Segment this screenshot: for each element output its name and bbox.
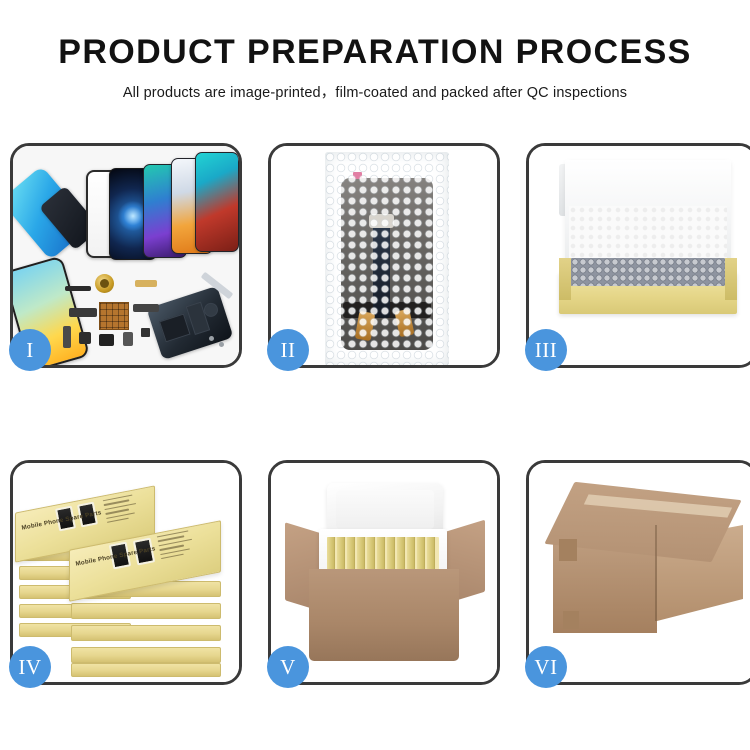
gray-bubble-wrap-contents [571, 258, 725, 286]
process-step-panel-1[interactable]: I [10, 143, 242, 368]
process-step-panel-2[interactable]: II [268, 143, 500, 368]
bubble-texture-overlay [325, 152, 449, 365]
step-6-image [529, 463, 750, 682]
stacked-box-right-5 [71, 663, 221, 677]
chassis-battery [159, 313, 191, 342]
stacked-box-right-2 [71, 603, 221, 619]
step-5-image [271, 463, 497, 682]
step-2-image [271, 146, 497, 365]
carton-tab-bottom [563, 611, 579, 629]
small-component-2 [99, 334, 114, 346]
gold-flex-part [135, 280, 157, 287]
tray-end-right [725, 258, 737, 300]
bubble-wrap-bag [325, 152, 449, 365]
process-step-grid: I II [10, 143, 740, 685]
flex-cable-part-3 [133, 304, 159, 312]
step-1-image [13, 146, 239, 365]
process-step-panel-5[interactable]: V [268, 460, 500, 685]
small-component-4 [141, 328, 150, 337]
wireless-charging-coil-part [95, 274, 114, 293]
screw-2 [219, 342, 224, 347]
step-badge-4: IV [9, 646, 51, 688]
earpiece-speaker-part [65, 286, 91, 291]
header: PRODUCT PREPARATION PROCESS All products… [0, 0, 750, 102]
flex-cable-part-2 [63, 326, 71, 348]
process-step-panel-3[interactable]: III [526, 143, 750, 368]
screw-1 [209, 336, 214, 341]
step-3-image [529, 146, 750, 365]
step-badge-3: III [525, 329, 567, 371]
copper-grid-part [99, 302, 129, 330]
stacked-box-right-3 [71, 625, 221, 641]
stacked-box-right-4 [71, 647, 221, 663]
step-badge-2: II [267, 329, 309, 371]
carton-tab-top [559, 539, 577, 561]
small-component-1 [79, 332, 91, 344]
carton-edge-seam [655, 525, 657, 621]
flex-cable-part-1 [69, 308, 97, 317]
page-subtitle: All products are image-printed，film-coat… [0, 81, 750, 102]
product-preparation-process-page: PRODUCT PREPARATION PROCESS All products… [0, 0, 750, 750]
process-step-panel-4[interactable]: Mobile Phone Spare Parts Mobile Phone Sp… [10, 460, 242, 685]
box-stack: Mobile Phone Spare Parts Mobile Phone Sp… [13, 463, 239, 682]
shipping-carton-open [309, 569, 459, 661]
step-badge-5: V [267, 646, 309, 688]
small-component-3 [123, 332, 133, 346]
page-title: PRODUCT PREPARATION PROCESS [0, 34, 750, 71]
step-4-image: Mobile Phone Spare Parts Mobile Phone Sp… [13, 463, 239, 682]
step-badge-1: I [9, 329, 51, 371]
tray-end-left [559, 258, 571, 300]
phone-screen-red-teal [195, 152, 239, 252]
step-badge-6: VI [525, 646, 567, 688]
yellow-box-tray [559, 272, 737, 314]
process-step-panel-6[interactable]: VI [526, 460, 750, 685]
